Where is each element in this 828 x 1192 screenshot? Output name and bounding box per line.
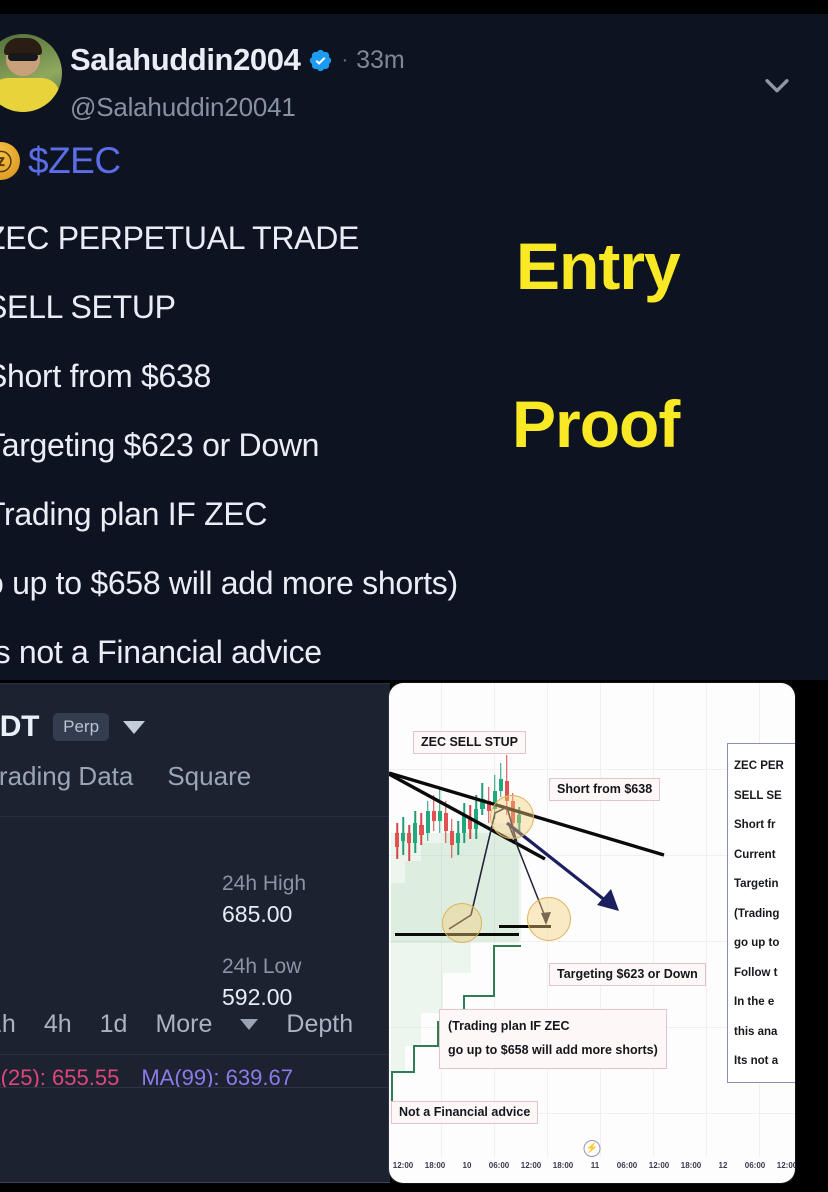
time-axis: 12:0018:001006:0012:0018:001106:0012:001… <box>389 1161 795 1179</box>
time-tick: 10 <box>463 1161 472 1170</box>
time-tick: 12:00 <box>777 1161 795 1170</box>
marker-circle <box>442 903 482 943</box>
avatar-shirt <box>0 78 60 112</box>
separator-dot: · <box>341 50 348 70</box>
cashtag-link[interactable]: $ZEC <box>28 140 121 182</box>
time-tick: 12:00 <box>393 1161 413 1170</box>
post-line: Targeting $623 or Down <box>0 411 560 480</box>
timeframe-more[interactable]: More <box>155 1010 212 1039</box>
caret-down-icon[interactable] <box>240 1019 258 1030</box>
overlay-proof-label: Proof <box>512 386 679 462</box>
post-line: Trading plan IF ZEC <box>0 480 560 549</box>
zec-coin-icon: ⓩ <box>0 142 20 180</box>
market-stats: 24h High 685.00 24h Low 592.00 <box>222 869 352 1013</box>
author-row: Salahuddin2004 · 33m <box>70 42 405 78</box>
side-note-line: SELL SE <box>734 782 795 812</box>
time-tick: 06:00 <box>489 1161 509 1170</box>
time-tick: 06:00 <box>617 1161 637 1170</box>
stat-value-24h-high: 685.00 <box>222 899 352 930</box>
side-note-line: this ana <box>734 1018 795 1048</box>
depth-button[interactable]: Depth <box>286 1010 353 1039</box>
contract-type-badge: Perp <box>53 713 109 741</box>
cashtag-row: ⓩ $ZEC <box>0 140 121 182</box>
side-note-line: Targetin <box>734 870 795 900</box>
annotation-trading-plan: (Trading plan IF ZEC go up to $658 will … <box>439 1009 667 1069</box>
side-note-line: Current <box>734 841 795 871</box>
avatar-sunglasses <box>8 53 38 61</box>
exchange-panel-lower <box>0 1087 390 1183</box>
chevron-down-icon[interactable] <box>756 64 798 106</box>
time-tick: 18:00 <box>553 1161 573 1170</box>
stat-value-24h-low: 592.00 <box>222 982 352 1013</box>
post-timestamp: 33m <box>356 46 405 75</box>
timeframe-1h[interactable]: 1h <box>0 1010 16 1039</box>
time-tick: 06:00 <box>745 1161 765 1170</box>
time-tick: 18:00 <box>425 1161 445 1170</box>
side-note-line: Follow t <box>734 959 795 989</box>
time-tick: 11 <box>591 1161 599 1170</box>
annotation-trading-plan-line2: go up to $658 will add more shorts) <box>448 1039 658 1063</box>
divider <box>0 1054 390 1055</box>
caret-down-icon[interactable] <box>123 721 145 734</box>
timeframe-row: 1h 4h 1d More Depth <box>0 1010 353 1039</box>
post-line: Short from $638 <box>0 342 560 411</box>
trading-chart-card[interactable]: ZEC SELL STUP Short from $638 Targeting … <box>389 683 795 1183</box>
annotation-trading-plan-line1: (Trading plan IF ZEC <box>448 1015 658 1039</box>
attached-media: SDT Perp Trading Data Square 24h High 68… <box>0 680 828 1192</box>
post-line: o up to $658 will add more shorts) <box>0 549 560 618</box>
post-line: ts not a Financial advice <box>0 618 560 687</box>
annotation-sell-setup: ZEC SELL STUP <box>413 731 526 754</box>
side-note-line: (Trading <box>734 900 795 930</box>
timeframe-4h[interactable]: 4h <box>44 1010 72 1039</box>
annotation-target: Targeting $623 or Down <box>549 963 706 986</box>
lightning-bolt-icon[interactable]: ⚡ <box>584 1140 601 1157</box>
post-body: ZEC PERPETUAL TRADE SELL SETUP Short fro… <box>0 204 560 687</box>
stat-label-24h-low: 24h Low <box>222 952 352 982</box>
symbol-selector[interactable]: SDT Perp <box>0 710 145 744</box>
marker-circle <box>527 897 571 941</box>
time-tick: 18:00 <box>681 1161 701 1170</box>
annotation-disclaimer: Not a Financial advice <box>391 1101 538 1124</box>
time-tick: 12 <box>719 1161 728 1170</box>
stat-label-24h-high: 24h High <box>222 869 352 899</box>
social-post: Salahuddin2004 · 33m @Salahuddin20041 ⓩ … <box>0 14 828 680</box>
annotation-short-entry: Short from $638 <box>549 778 660 801</box>
symbol-label: SDT <box>0 710 39 744</box>
verified-badge-icon <box>308 48 333 73</box>
side-note-line: Short fr <box>734 811 795 841</box>
overlay-entry-label: Entry <box>516 228 680 304</box>
side-note-line: go up to <box>734 929 795 959</box>
post-line: SELL SETUP <box>0 273 560 342</box>
exchange-tabs: Trading Data Square <box>0 761 251 792</box>
side-note-line: In the e <box>734 988 795 1018</box>
chart-plot-area: ZEC SELL STUP Short from $638 Targeting … <box>389 683 795 1183</box>
post-line: ZEC PERPETUAL TRADE <box>0 204 560 273</box>
timeframe-1d[interactable]: 1d <box>100 1010 128 1039</box>
post-header: Salahuddin2004 · 33m @Salahuddin20041 <box>0 22 828 126</box>
exchange-panel: SDT Perp Trading Data Square 24h High 68… <box>0 683 390 1087</box>
author-handle[interactable]: @Salahuddin20041 <box>70 92 296 123</box>
time-tick: 12:00 <box>521 1161 541 1170</box>
tab-square[interactable]: Square <box>167 761 251 792</box>
marker-circle <box>490 795 534 839</box>
display-name[interactable]: Salahuddin2004 <box>70 42 300 78</box>
tab-trading-data[interactable]: Trading Data <box>0 761 133 792</box>
time-tick: 12:00 <box>649 1161 669 1170</box>
chart-side-notes-panel: ZEC PER SELL SE Short fr Current Targeti… <box>727 743 795 1083</box>
avatar[interactable] <box>0 34 62 112</box>
status-bar-strip <box>0 0 828 14</box>
side-note-line: ZEC PER <box>734 752 795 782</box>
sell-arrow-head <box>597 889 619 911</box>
side-note-line: Its not a <box>734 1047 795 1077</box>
divider <box>0 816 390 817</box>
